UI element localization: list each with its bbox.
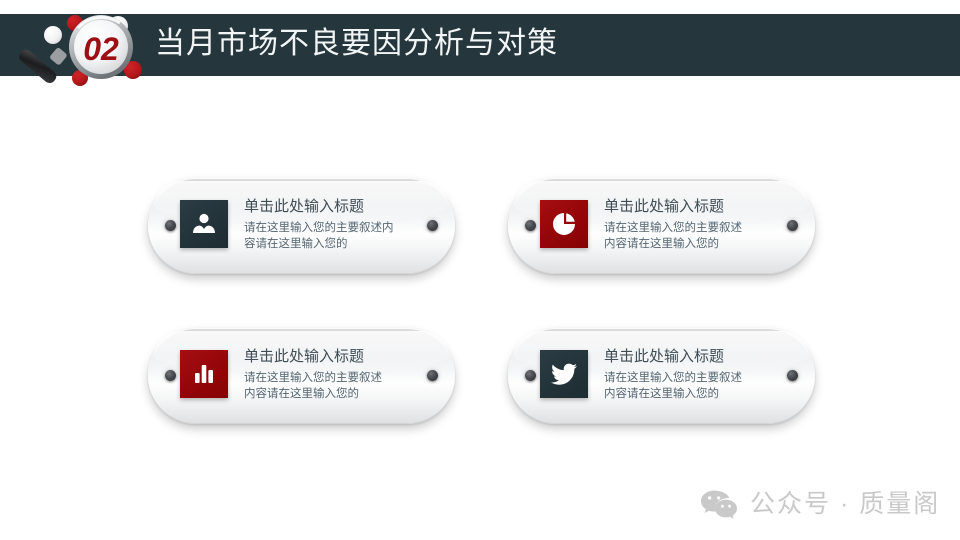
watermark-text: 公众号 · 质量阁 (750, 487, 940, 521)
section-number-badge: 02 (8, 2, 158, 94)
card-2[interactable]: 单击此处输入标题 请在这里输入您的主要叙述 内容请在这里输入您的 (508, 178, 815, 274)
pie-chart-icon (551, 211, 577, 237)
screw-dot-left (165, 370, 176, 381)
card-4-text: 单击此处输入标题 请在这里输入您的主要叙述 内容请在这里输入您的 (604, 346, 789, 402)
card-1-icon-tile[interactable] (180, 200, 228, 248)
twitter-bird-icon (551, 362, 578, 386)
card-3-description: 请在这里输入您的主要叙述 内容请在这里输入您的 (244, 370, 429, 402)
card-4-description: 请在这里输入您的主要叙述 内容请在这里输入您的 (604, 370, 789, 402)
card-1[interactable]: 单击此处输入标题 请在这里输入您的主要叙述内 容请在这里输入您的 (148, 178, 455, 274)
screw-dot-left (165, 220, 176, 231)
card-4-desc-line-2: 内容请在这里输入您的 (604, 386, 789, 402)
card-3-icon-tile[interactable] (180, 350, 228, 398)
card-4[interactable]: 单击此处输入标题 请在这里输入您的主要叙述 内容请在这里输入您的 (508, 328, 815, 424)
magnifier-handle (17, 47, 68, 86)
card-3-desc-line-2: 内容请在这里输入您的 (244, 386, 429, 402)
watermark: 公众号 · 质量阁 (700, 484, 940, 524)
card-4-icon-tile[interactable] (540, 350, 588, 398)
card-2-icon-tile[interactable] (540, 200, 588, 248)
users-icon (191, 211, 217, 237)
screw-dot-left (525, 370, 536, 381)
card-1-description: 请在这里输入您的主要叙述内 容请在这里输入您的 (244, 220, 429, 252)
card-1-text: 单击此处输入标题 请在这里输入您的主要叙述内 容请在这里输入您的 (244, 196, 429, 252)
page-title: 当月市场不良要因分析与对策 (155, 22, 558, 66)
card-2-description: 请在这里输入您的主要叙述 内容请在这里输入您的 (604, 220, 789, 252)
card-2-title: 单击此处输入标题 (604, 196, 789, 218)
wechat-icon (700, 489, 738, 519)
card-4-title: 单击此处输入标题 (604, 346, 789, 368)
card-2-desc-line-2: 内容请在这里输入您的 (604, 236, 789, 252)
card-3-text: 单击此处输入标题 请在这里输入您的主要叙述 内容请在这里输入您的 (244, 346, 429, 402)
card-2-text: 单击此处输入标题 请在这里输入您的主要叙述 内容请在这里输入您的 (604, 196, 789, 252)
bar-chart-icon (192, 362, 216, 386)
card-1-title: 单击此处输入标题 (244, 196, 429, 218)
screw-dot-left (525, 220, 536, 231)
card-2-desc-line-1: 请在这里输入您的主要叙述 (604, 220, 789, 236)
card-3-desc-line-1: 请在这里输入您的主要叙述 (244, 370, 429, 386)
card-1-desc-line-1: 请在这里输入您的主要叙述内 (244, 220, 429, 236)
slide-root: 当月市场不良要因分析与对策 (0, 0, 960, 540)
badge-number: 02 (83, 31, 119, 67)
card-1-desc-line-2: 容请在这里输入您的 (244, 236, 429, 252)
decor-ball-white-1 (44, 26, 62, 44)
card-4-desc-line-1: 请在这里输入您的主要叙述 (604, 370, 789, 386)
card-3[interactable]: 单击此处输入标题 请在这里输入您的主要叙述 内容请在这里输入您的 (148, 328, 455, 424)
card-3-title: 单击此处输入标题 (244, 346, 429, 368)
